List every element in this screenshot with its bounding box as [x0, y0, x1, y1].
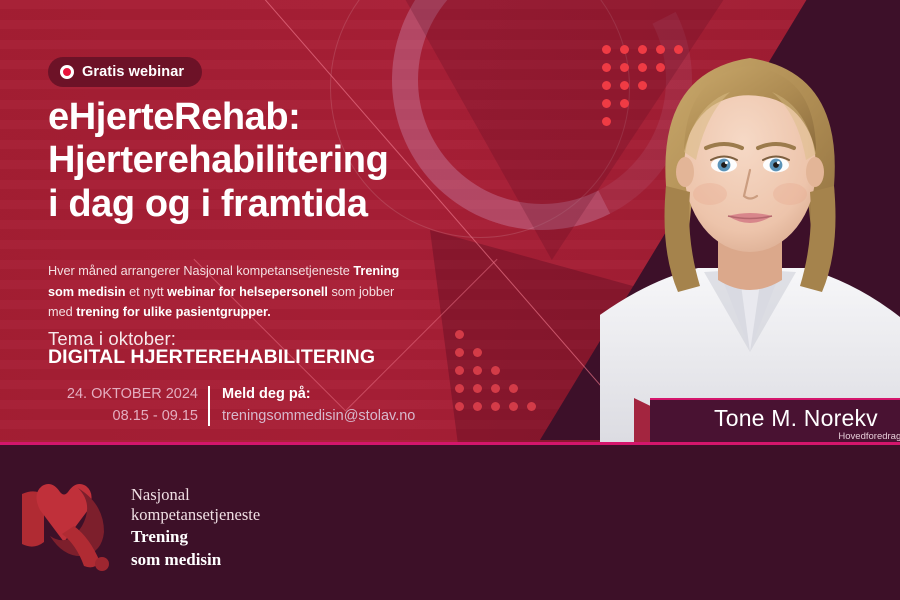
signup-label: Meld deg på:	[222, 384, 415, 406]
headline-line-2: Hjerterehabilitering	[48, 139, 468, 182]
desc-part-1: Hver måned arrangerer Nasjonal kompetans…	[48, 264, 353, 278]
event-meta: 24. OKTOBER 2024 08.15 - 09.15 Meld deg …	[48, 384, 415, 428]
org-line-2: kompetansetjeneste	[131, 505, 260, 525]
speaker-name-banner: Tone M. Norekv Hovedforedrags	[650, 398, 900, 442]
signup-email[interactable]: treningsommedisin@stolav.no	[222, 406, 415, 428]
organization-logo	[8, 470, 120, 580]
headline-line-1: eHjerteRehab:	[48, 96, 468, 139]
speaker-name: Tone M. Norekv	[714, 405, 878, 432]
webinar-poster: Gratis webinar eHjerteRehab: Hjerterehab…	[0, 0, 900, 600]
event-time: 08.15 - 09.15	[48, 406, 198, 428]
organization-name: Nasjonal kompetansetjeneste Trening som …	[131, 485, 260, 571]
speaker-role: Hovedforedrags	[838, 431, 900, 442]
headline-line-3: i dag og i framtida	[48, 183, 468, 226]
page-title: eHjerteRehab: Hjerterehabilitering i dag…	[48, 96, 468, 226]
record-circle-icon	[60, 65, 74, 79]
free-webinar-badge: Gratis webinar	[48, 57, 202, 87]
theme-value: DIGITAL HJERTEREHABILITERING	[48, 346, 375, 369]
description-paragraph: Hver måned arrangerer Nasjonal kompetans…	[48, 261, 418, 323]
footer-bar: Nasjonal kompetansetjeneste Trening som …	[0, 445, 900, 600]
event-date: 24. OKTOBER 2024	[48, 384, 198, 406]
org-line-3: Trening	[131, 527, 260, 548]
desc-bold-2: webinar for helsepersonell	[167, 285, 328, 299]
signup-block: Meld deg på: treningsommedisin@stolav.no	[222, 384, 415, 428]
speaker-portrait	[600, 0, 900, 442]
badge-label: Gratis webinar	[82, 64, 184, 80]
org-line-4: som medisin	[131, 550, 260, 571]
org-line-1: Nasjonal	[131, 485, 260, 505]
desc-bold-3: trening for ulike pasientgrupper.	[76, 305, 271, 319]
date-time-block: 24. OKTOBER 2024 08.15 - 09.15	[48, 384, 198, 428]
meta-divider	[208, 386, 210, 426]
desc-part-2: et nytt	[126, 285, 168, 299]
